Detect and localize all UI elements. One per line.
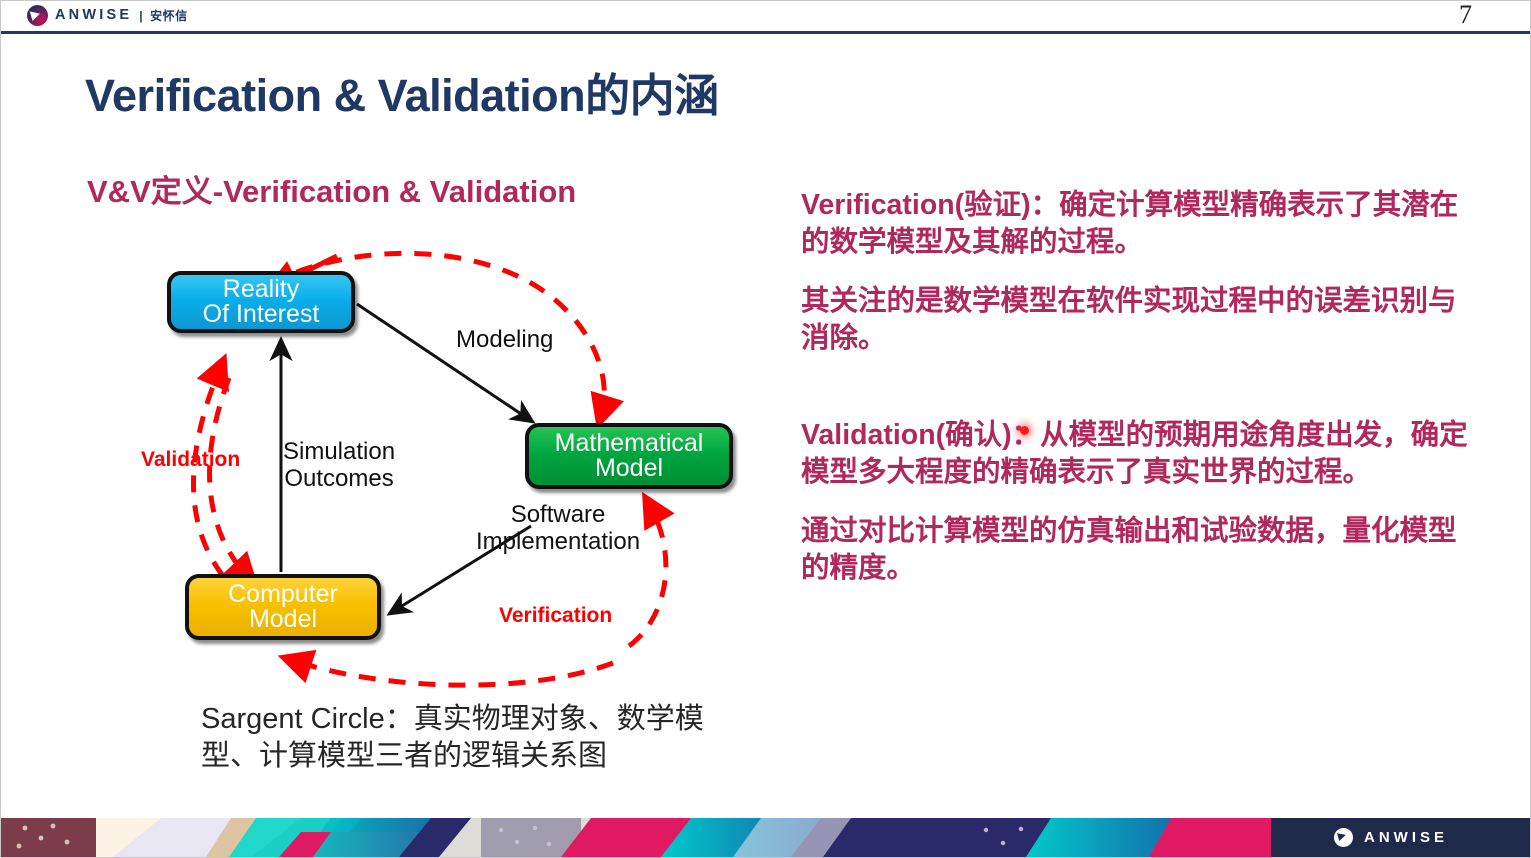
label-simulation-outcomes: Simulation Outcomes	[283, 438, 395, 492]
label-simulation-line1: Simulation	[283, 438, 395, 465]
label-simulation-line2: Outcomes	[283, 465, 395, 492]
diagram-caption: Sargent Circle：真实物理对象、数学模型、计算模型三者的逻辑关系图	[201, 701, 761, 775]
paragraph-spacer	[801, 379, 1473, 417]
paragraph-verification-focus: 其关注的是数学模型在软件实现过程中的误差识别与消除。	[801, 283, 1473, 357]
page-number: 7	[1459, 2, 1472, 28]
sargent-circle-diagram: Reality Of Interest Mathematical Model C…	[101, 226, 781, 696]
content-column: Verification(验证)：确定计算模型精确表示了其潜在的数学模型及其解的…	[801, 187, 1473, 609]
verification-loop-arc-bottom	[291, 660, 613, 685]
anwise-swoosh-logo-icon	[27, 5, 48, 26]
node-reality-line2: Of Interest	[203, 302, 320, 328]
paragraph-validation-text: Validation(确认)：从模型的预期用途角度出发，确定模型多大程度的精确表…	[801, 419, 1468, 488]
slide-header: ANWISE | 安怀信 7	[1, 1, 1530, 33]
label-verification: Verification	[499, 604, 612, 628]
node-math-line1: Mathematical	[555, 431, 704, 457]
footer-brand-lockup: ANWISE	[1298, 818, 1530, 857]
slide-canvas: ANWISE | 安怀信 7 Verification & Validation…	[0, 0, 1531, 858]
slide-footer: ANWISE	[1, 818, 1530, 857]
node-computer-line2: Model	[249, 607, 317, 633]
label-software-implementation: Software Implementation	[476, 501, 640, 555]
label-software-line2: Implementation	[476, 528, 640, 555]
brand-separator: |	[139, 9, 143, 23]
label-validation: Validation	[141, 448, 240, 472]
node-reality-of-interest: Reality Of Interest	[167, 271, 355, 333]
paragraph-verification-definition: Verification(验证)：确定计算模型精确表示了其潜在的数学模型及其解的…	[801, 187, 1473, 261]
page-title: Verification & Validation的内涵	[85, 59, 719, 124]
brand-name: ANWISE	[55, 8, 132, 23]
label-modeling: Modeling	[456, 326, 553, 353]
brand-lockup: ANWISE | 安怀信	[27, 5, 188, 26]
arrow-modeling	[357, 304, 533, 422]
section-subtitle: V&V定义-Verification & Validation	[87, 166, 576, 211]
node-mathematical-model: Mathematical Model	[525, 423, 733, 489]
header-divider	[1, 31, 1530, 34]
paragraph-validation-method: 通过对比计算模型的仿真输出和试验数据，量化模型的精度。	[801, 513, 1473, 587]
footer-brand-name: ANWISE	[1364, 829, 1448, 846]
brand-name-chinese: 安怀信	[150, 7, 188, 24]
label-software-line1: Software	[476, 501, 640, 528]
node-computer-model: Computer Model	[185, 574, 381, 640]
anwise-swoosh-logo-icon-footer	[1334, 828, 1353, 847]
node-math-line2: Model	[595, 456, 663, 482]
validation-arc-down	[210, 378, 249, 578]
node-reality-line1: Reality	[223, 277, 299, 303]
brand-name-cn: |	[139, 9, 143, 23]
paragraph-validation-definition: Validation(确认)：从模型的预期用途角度出发，确定模型多大程度的精确表…	[801, 417, 1473, 491]
node-computer-line1: Computer	[228, 582, 338, 608]
